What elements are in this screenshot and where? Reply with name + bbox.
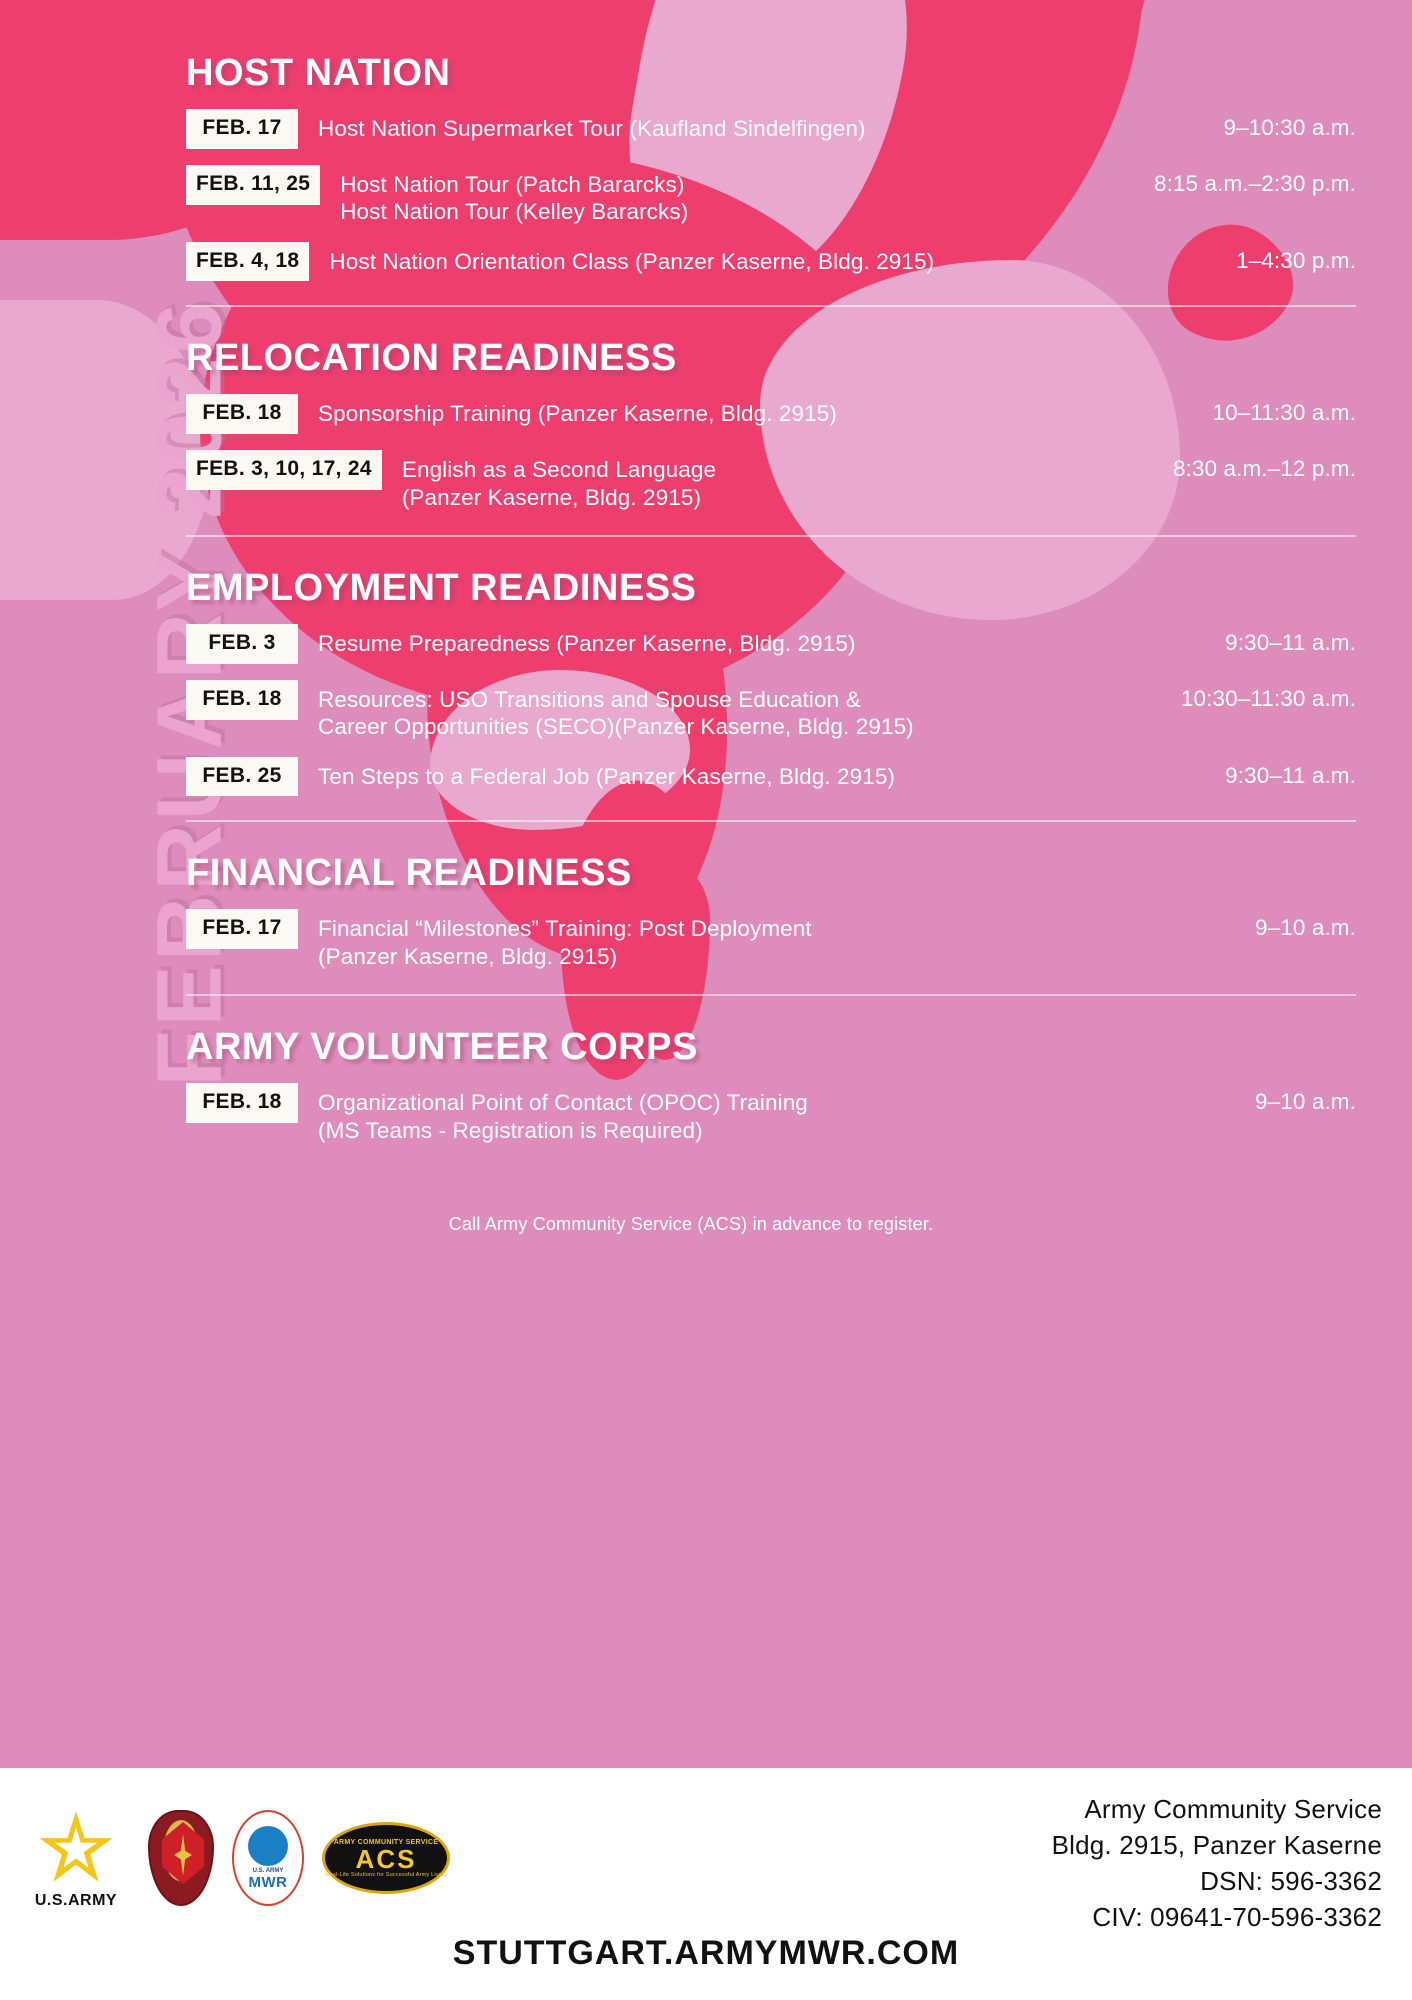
event-desc-line1: Sponsorship Training (Panzer Kaserne, Bl… — [318, 401, 837, 426]
event-desc-line2: Host Nation Tour (Kelley Bararcks) — [340, 198, 1141, 225]
section-host-nation: HOST NATION FEB. 17 Host Nation Supermar… — [186, 52, 1356, 281]
event-date: FEB. 17 — [186, 109, 298, 149]
acs-bottom-label: Real-Life Solutions for Successful Army … — [325, 1872, 446, 1878]
event-time: 8:15 a.m.–2:30 p.m. — [1141, 165, 1356, 197]
event-time: 10–11:30 a.m. — [1141, 394, 1356, 426]
star-icon — [22, 1806, 130, 1892]
event-desc-line1: Host Nation Tour (Patch Bararcks) — [340, 172, 684, 197]
event-time: 10:30–11:30 a.m. — [1141, 680, 1356, 712]
event-description: Organizational Point of Contact (OPOC) T… — [318, 1083, 1141, 1144]
section-divider — [186, 820, 1356, 822]
contact-line-2: Bldg. 2915, Panzer Kaserne — [1052, 1828, 1382, 1864]
event-row[interactable]: FEB. 18 Resources: USO Transitions and S… — [186, 680, 1356, 741]
section-financial-readiness: FINANCIAL READINESS FEB. 17 Financial “M… — [186, 852, 1356, 970]
event-row[interactable]: FEB. 17 Financial “Milestones” Training:… — [186, 909, 1356, 970]
event-date: FEB. 11, 25 — [186, 165, 320, 205]
section-divider — [186, 305, 1356, 307]
section-divider — [186, 994, 1356, 996]
event-description: Host Nation Supermarket Tour (Kaufland S… — [318, 109, 1141, 142]
acs-logo: ARMY COMMUNITY SERVICE ACS Real-Life Sol… — [322, 1822, 450, 1894]
mwr-label: MWR — [249, 1874, 288, 1891]
event-description: English as a Second Language (Panzer Kas… — [402, 450, 1141, 511]
event-time: 1–4:30 p.m. — [1141, 242, 1356, 274]
event-date: FEB. 18 — [186, 680, 298, 720]
event-desc-line1: Host Nation Supermarket Tour (Kaufland S… — [318, 116, 866, 141]
contact-line-1: Army Community Service — [1052, 1792, 1382, 1828]
contact-dsn: DSN: 596-3362 — [1052, 1864, 1382, 1900]
event-row[interactable]: FEB. 18 Organizational Point of Contact … — [186, 1083, 1356, 1144]
event-description: Sponsorship Training (Panzer Kaserne, Bl… — [318, 394, 1141, 427]
event-row[interactable]: FEB. 18 Sponsorship Training (Panzer Kas… — [186, 394, 1356, 434]
website-url[interactable]: STUTTGART.ARMYMWR.COM — [0, 1934, 1412, 1973]
event-description: Ten Steps to a Federal Job (Panzer Kaser… — [318, 757, 1141, 790]
section-title: FINANCIAL READINESS — [186, 852, 1356, 895]
event-date: FEB. 3 — [186, 624, 298, 664]
event-date: FEB. 25 — [186, 757, 298, 797]
section-army-volunteer-corps: ARMY VOLUNTEER CORPS FEB. 18 Organizatio… — [186, 1026, 1356, 1144]
event-description: Host Nation Orientation Class (Panzer Ka… — [329, 242, 1141, 275]
acs-label: ACS — [356, 1846, 417, 1872]
event-date: FEB. 3, 10, 17, 24 — [186, 450, 382, 490]
section-employment-readiness: EMPLOYMENT READINESS FEB. 3 Resume Prepa… — [186, 567, 1356, 796]
event-row[interactable]: FEB. 17 Host Nation Supermarket Tour (Ka… — [186, 109, 1356, 149]
army-mwr-logo: U.S. ARMY MWR — [232, 1810, 304, 1906]
event-time: 8:30 a.m.–12 p.m. — [1141, 450, 1356, 482]
poster: FEBRUARY 2026 HOST NATION FEB. 17 Host N… — [0, 0, 1412, 2000]
event-time: 9:30–11 a.m. — [1141, 757, 1356, 789]
event-description: Host Nation Tour (Patch Bararcks) Host N… — [340, 165, 1141, 226]
footer: U.S.ARMY U.S. ARMY MWR ARMY COMMUNITY SE… — [0, 1768, 1412, 2000]
event-list: FEB. 18 Sponsorship Training (Panzer Kas… — [186, 394, 1356, 511]
event-time: 9:30–11 a.m. — [1141, 624, 1356, 656]
event-desc-line1: English as a Second Language — [402, 457, 716, 482]
event-list: FEB. 18 Organizational Point of Contact … — [186, 1083, 1356, 1144]
event-desc-line1: Resources: USO Transitions and Spouse Ed… — [318, 687, 861, 712]
event-time: 9–10 a.m. — [1141, 1083, 1356, 1115]
event-list: FEB. 3 Resume Preparedness (Panzer Kaser… — [186, 624, 1356, 796]
contact-civ: CIV: 09641-70-596-3362 — [1052, 1900, 1382, 1936]
event-row[interactable]: FEB. 3, 10, 17, 24 English as a Second L… — [186, 450, 1356, 511]
event-row[interactable]: FEB. 11, 25 Host Nation Tour (Patch Bara… — [186, 165, 1356, 226]
event-date: FEB. 4, 18 — [186, 242, 309, 282]
event-description: Resume Preparedness (Panzer Kaserne, Bld… — [318, 624, 1141, 657]
event-desc-line2: (MS Teams - Registration is Required) — [318, 1117, 1141, 1144]
event-row[interactable]: FEB. 3 Resume Preparedness (Panzer Kaser… — [186, 624, 1356, 664]
event-desc-line2: (Panzer Kaserne, Bldg. 2915) — [402, 484, 1141, 511]
event-desc-line2: (Panzer Kaserne, Bldg. 2915) — [318, 943, 1141, 970]
event-desc-line2: Career Opportunities (SECO)(Panzer Kaser… — [318, 713, 1141, 740]
event-list: FEB. 17 Financial “Milestones” Training:… — [186, 909, 1356, 970]
register-note: Call Army Community Service (ACS) in adv… — [186, 1214, 1356, 1235]
event-list: FEB. 17 Host Nation Supermarket Tour (Ka… — [186, 109, 1356, 281]
event-desc-line1: Organizational Point of Contact (OPOC) T… — [318, 1090, 808, 1115]
section-title: HOST NATION — [186, 52, 1356, 95]
event-desc-line1: Host Nation Orientation Class (Panzer Ka… — [329, 249, 934, 274]
sections-container: HOST NATION FEB. 17 Host Nation Supermar… — [186, 52, 1356, 1235]
us-army-label: U.S.ARMY — [22, 1892, 130, 1910]
event-date: FEB. 18 — [186, 394, 298, 434]
event-date: FEB. 17 — [186, 909, 298, 949]
section-title: EMPLOYMENT READINESS — [186, 567, 1356, 610]
event-desc-line1: Ten Steps to a Federal Job (Panzer Kaser… — [318, 764, 895, 789]
event-desc-line1: Financial “Milestones” Training: Post De… — [318, 916, 812, 941]
event-desc-line1: Resume Preparedness (Panzer Kaserne, Bld… — [318, 631, 856, 656]
footer-logos: U.S.ARMY U.S. ARMY MWR ARMY COMMUNITY SE… — [22, 1806, 450, 1910]
event-description: Financial “Milestones” Training: Post De… — [318, 909, 1141, 970]
event-time: 9–10 a.m. — [1141, 909, 1356, 941]
event-description: Resources: USO Transitions and Spouse Ed… — [318, 680, 1141, 741]
garrison-crest-logo — [148, 1810, 214, 1906]
event-row[interactable]: FEB. 4, 18 Host Nation Orientation Class… — [186, 242, 1356, 282]
section-title: RELOCATION READINESS — [186, 337, 1356, 380]
section-relocation-readiness: RELOCATION READINESS FEB. 18 Sponsorship… — [186, 337, 1356, 511]
section-title: ARMY VOLUNTEER CORPS — [186, 1026, 1356, 1069]
us-army-logo: U.S.ARMY — [22, 1806, 130, 1910]
event-time: 9–10:30 a.m. — [1141, 109, 1356, 141]
event-row[interactable]: FEB. 25 Ten Steps to a Federal Job (Panz… — [186, 757, 1356, 797]
event-date: FEB. 18 — [186, 1083, 298, 1123]
globe-icon — [248, 1826, 288, 1866]
contact-info: Army Community Service Bldg. 2915, Panze… — [1052, 1792, 1382, 1936]
section-divider — [186, 535, 1356, 537]
